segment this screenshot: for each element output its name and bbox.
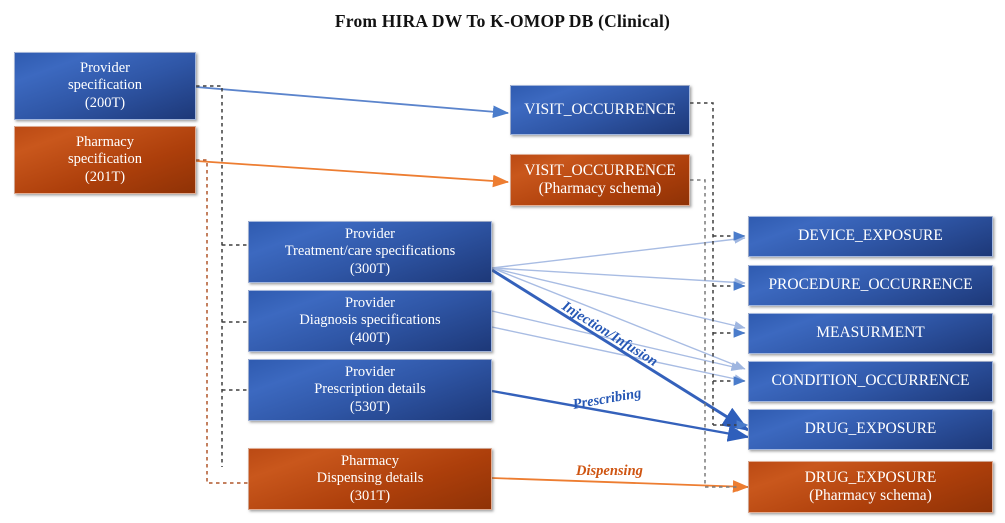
node-line: (400T): [350, 330, 390, 347]
node-line: Prescription details: [314, 381, 426, 398]
node-measurment[interactable]: MEASURMENT: [748, 313, 993, 354]
edge-dotted-provider-trunk: [196, 86, 222, 467]
node-pharmacy-dispensing-details[interactable]: Pharmacy Dispensing details (301T): [248, 448, 492, 510]
node-drug-exposure[interactable]: DRUG_EXPOSURE: [748, 409, 993, 450]
edge-treatment-to-device-exposure: [492, 238, 745, 268]
node-line: (301T): [350, 488, 390, 505]
node-line: (Pharmacy schema): [809, 487, 932, 505]
node-line: (300T): [350, 261, 390, 278]
node-line: Provider: [345, 226, 395, 243]
node-line: Treatment/care specifications: [285, 243, 456, 260]
node-provider-diagnosis-specifications[interactable]: Provider Diagnosis specifications (400T): [248, 290, 492, 352]
node-visit-occurrence-pharmacy-schema[interactable]: VISIT_OCCURRENCE (Pharmacy schema): [510, 154, 690, 206]
node-line: (530T): [350, 399, 390, 416]
edge-provider-spec-to-visit-occurrence: [196, 87, 508, 113]
edge-label-dispensing: Dispensing: [576, 463, 643, 480]
node-line: Pharmacy: [76, 134, 134, 151]
node-line: DEVICE_EXPOSURE: [798, 227, 943, 245]
node-provider-prescription-details[interactable]: Provider Prescription details (530T): [248, 359, 492, 421]
node-line: DRUG_EXPOSURE: [805, 469, 937, 487]
node-provider-specification[interactable]: Provider specification (200T): [14, 52, 196, 120]
node-line: VISIT_OCCURRENCE: [524, 162, 676, 180]
edge-treatment-to-procedure-occurrence: [492, 268, 745, 283]
diagram-canvas: From HIRA DW To K-OMOP DB (Clinical): [0, 0, 1005, 523]
edge-dotted-visit-pharmacy-trunk: [690, 180, 748, 487]
node-condition-occurrence[interactable]: CONDITION_OCCURRENCE: [748, 361, 993, 402]
node-line: PROCEDURE_OCCURRENCE: [768, 276, 972, 294]
node-drug-exposure-pharmacy-schema[interactable]: DRUG_EXPOSURE (Pharmacy schema): [748, 461, 993, 513]
node-pharmacy-specification[interactable]: Pharmacy specification (201T): [14, 126, 196, 194]
node-line: specification: [68, 151, 142, 168]
node-line: specification: [68, 77, 142, 94]
node-line: Provider: [345, 295, 395, 312]
node-line: Diagnosis specifications: [299, 312, 440, 329]
node-visit-occurrence[interactable]: VISIT_OCCURRENCE: [510, 85, 690, 135]
node-device-exposure[interactable]: DEVICE_EXPOSURE: [748, 216, 993, 257]
node-line: DRUG_EXPOSURE: [805, 420, 937, 438]
edge-dotted-visit-trunk: [690, 103, 713, 425]
node-line: Dispensing details: [317, 470, 424, 487]
node-line: (200T): [85, 95, 125, 112]
node-line: (201T): [85, 169, 125, 186]
node-provider-treatment-care-specifications[interactable]: Provider Treatment/care specifications (…: [248, 221, 492, 283]
node-line: Pharmacy: [341, 453, 399, 470]
node-line: (Pharmacy schema): [539, 180, 662, 198]
node-procedure-occurrence[interactable]: PROCEDURE_OCCURRENCE: [748, 265, 993, 306]
edge-pharmacy-spec-to-visit-occurrence-pharmacy: [196, 161, 508, 182]
node-line: Provider: [345, 364, 395, 381]
node-line: Provider: [80, 60, 130, 77]
node-line: VISIT_OCCURRENCE: [524, 101, 676, 119]
node-line: CONDITION_OCCURRENCE: [771, 372, 969, 390]
node-line: MEASURMENT: [816, 324, 925, 342]
